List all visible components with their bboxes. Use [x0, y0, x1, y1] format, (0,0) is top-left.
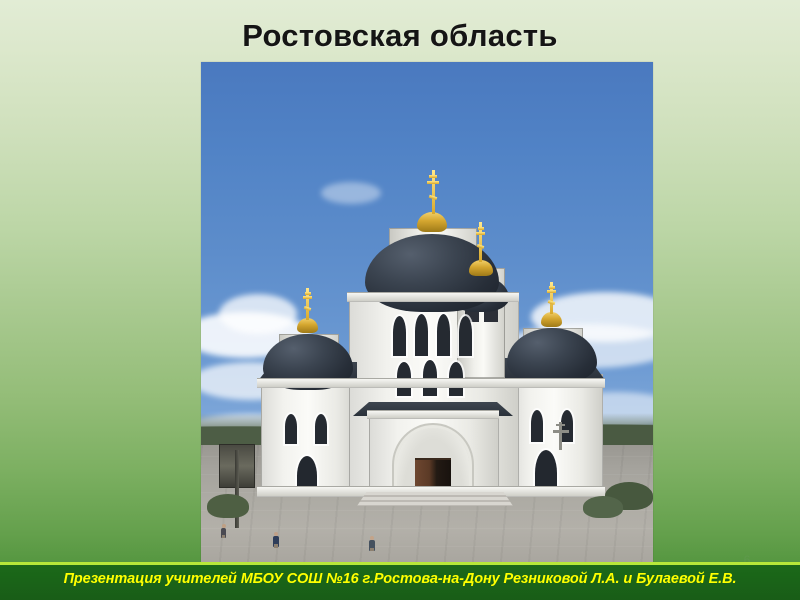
cornice-band [367, 410, 499, 419]
side-dome [507, 328, 597, 384]
facade-window [437, 314, 450, 356]
footer-credit-text: Презентация учителей МБОУ СОШ №16 г.Рост… [0, 571, 800, 587]
footer-divider [0, 562, 800, 565]
cathedral-building [201, 62, 653, 565]
facade-window [531, 410, 543, 442]
page-title: Ростовская область [0, 18, 800, 54]
footer-bar: Презентация учителей МБОУ СОШ №16 г.Рост… [0, 562, 800, 600]
wall-cross-icon [553, 422, 569, 450]
orthodox-cross-icon [424, 170, 442, 214]
facade-window [285, 414, 297, 444]
orthodox-cross-icon [300, 288, 315, 320]
orthodox-cross-icon [473, 222, 488, 262]
gold-cupola-base [297, 318, 318, 333]
cathedral-photo[interactable] [201, 62, 653, 565]
facade-window [415, 314, 428, 356]
facade-window [393, 316, 406, 356]
orthodox-cross-icon [544, 282, 559, 314]
gold-cupola-base [417, 212, 447, 232]
gold-cupola-base [541, 312, 562, 327]
person-figure [221, 524, 226, 538]
cornice-band [257, 378, 605, 388]
person-figure [273, 532, 279, 548]
facade-window [315, 414, 327, 444]
gold-cupola-base [469, 260, 493, 276]
entrance-steps [357, 492, 513, 506]
presentation-slide: Ростовская область [0, 0, 800, 600]
person-figure [369, 536, 375, 551]
shrub [207, 494, 249, 518]
cornice-band [347, 292, 519, 302]
shrub [583, 496, 623, 518]
facade-window [459, 316, 472, 356]
